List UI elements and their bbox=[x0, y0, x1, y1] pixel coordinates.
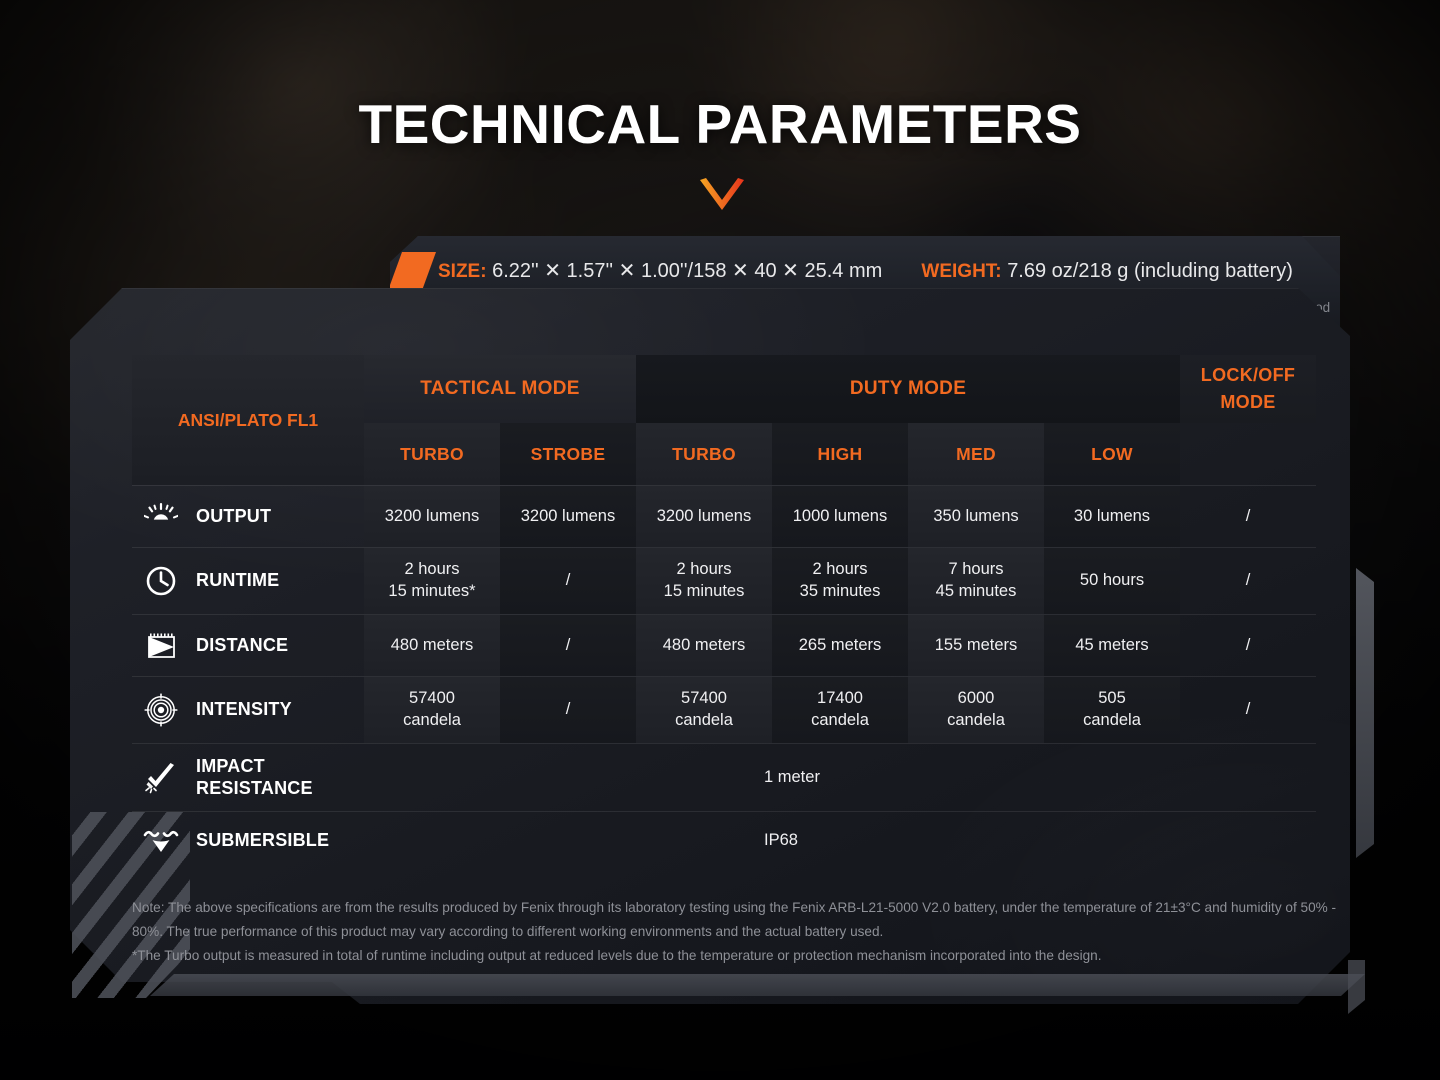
cell-runtime-lockoff: / bbox=[1180, 548, 1316, 614]
column-header-duty-turbo[interactable]: TURBO bbox=[636, 423, 772, 485]
size-value: 6.22'' ✕ 1.57'' ✕ 1.00''/158 ✕ 40 ✕ 25.4… bbox=[492, 260, 882, 282]
table-row: SUBMERSIBLE IP68 bbox=[132, 811, 1316, 869]
clock-icon bbox=[140, 565, 182, 597]
ansi-plato-label-cell: ANSI/PLATO FL1 bbox=[132, 355, 364, 485]
table-row: INTENSITY 57400candela / 57400candela 17… bbox=[132, 676, 1316, 743]
cell-runtime-duty-high: 2 hours35 minutes bbox=[772, 548, 908, 614]
cell-output-duty-med: 350 lumens bbox=[908, 486, 1044, 547]
cell-distance-duty-med: 155 meters bbox=[908, 615, 1044, 676]
row-label-output: OUTPUT bbox=[132, 486, 364, 547]
weight-key: WEIGHT: bbox=[921, 261, 1001, 282]
cell-runtime-tactical-turbo: 2 hours15 minutes* bbox=[364, 548, 500, 614]
cell-runtime-duty-low: 50 hours bbox=[1044, 548, 1180, 614]
weight-value: 7.69 oz/218 g (including battery) bbox=[1007, 260, 1293, 282]
cell-output-lockoff: / bbox=[1180, 486, 1316, 547]
group-header-tactical: TACTICAL MODE bbox=[364, 355, 636, 423]
cell-intensity-lockoff: / bbox=[1180, 677, 1316, 743]
row-label-text: DISTANCE bbox=[196, 635, 288, 656]
row-label-distance: DISTANCE bbox=[132, 615, 364, 676]
water-drop-icon bbox=[140, 828, 182, 854]
row-label-text: OUTPUT bbox=[196, 506, 271, 527]
cell-impact-resistance-value: 1 meter bbox=[364, 744, 1316, 811]
row-label-runtime: RUNTIME bbox=[132, 548, 364, 614]
impact-resistance-icon bbox=[140, 762, 182, 794]
panel-bottom-accent-bar bbox=[150, 974, 1365, 996]
cell-intensity-duty-turbo: 57400candela bbox=[636, 677, 772, 743]
specs-table: ANSI/PLATO FL1 TACTICAL MODE DUTY MODE L… bbox=[132, 355, 1316, 869]
chevron-down-icon bbox=[698, 176, 746, 216]
page-title: TECHNICAL PARAMETERS bbox=[0, 92, 1440, 156]
table-row: IMPACTRESISTANCE 1 meter bbox=[132, 743, 1316, 811]
column-header-tactical-turbo[interactable]: TURBO bbox=[364, 423, 500, 485]
cell-distance-lockoff: / bbox=[1180, 615, 1316, 676]
size-key: SIZE: bbox=[438, 261, 487, 282]
cell-distance-tactical-turbo: 480 meters bbox=[364, 615, 500, 676]
row-label-text: INTENSITY bbox=[196, 699, 292, 720]
cell-output-duty-turbo: 3200 lumens bbox=[636, 486, 772, 547]
row-label-text: SUBMERSIBLE bbox=[196, 830, 329, 851]
table-row: DISTANCE 480 meters / 480 meters 265 met… bbox=[132, 614, 1316, 676]
cell-distance-duty-low: 45 meters bbox=[1044, 615, 1180, 676]
cell-runtime-duty-med: 7 hours45 minutes bbox=[908, 548, 1044, 614]
panel-right-accent-bar bbox=[1356, 568, 1374, 858]
cell-intensity-duty-high: 17400candela bbox=[772, 677, 908, 743]
column-header-duty-low[interactable]: LOW bbox=[1044, 423, 1180, 485]
row-label-intensity: INTENSITY bbox=[132, 677, 364, 743]
ansi-plato-label: ANSI/PLATO FL1 bbox=[178, 410, 318, 431]
row-label-impact-resistance: IMPACTRESISTANCE bbox=[132, 744, 364, 811]
column-header-lockoff-spacer bbox=[1180, 423, 1316, 485]
row-label-text: IMPACTRESISTANCE bbox=[196, 756, 313, 798]
footer-note-main: Note: The above specifications are from … bbox=[132, 900, 1336, 939]
sunburst-icon bbox=[140, 502, 182, 532]
footer-note-asterisk: *The Turbo output is measured in total o… bbox=[132, 948, 1102, 963]
table-row: OUTPUT 3200 lumens 3200 lumens 3200 lume… bbox=[132, 485, 1316, 547]
cell-output-duty-high: 1000 lumens bbox=[772, 486, 908, 547]
row-label-text: RUNTIME bbox=[196, 570, 279, 591]
cell-intensity-tactical-turbo: 57400candela bbox=[364, 677, 500, 743]
cell-runtime-duty-turbo: 2 hours15 minutes bbox=[636, 548, 772, 614]
cell-submersible-value: IP68 bbox=[364, 812, 1316, 869]
cell-output-tactical-strobe: 3200 lumens bbox=[500, 486, 636, 547]
cell-intensity-duty-low: 505candela bbox=[1044, 677, 1180, 743]
group-header-duty: DUTY MODE bbox=[636, 355, 1180, 423]
cell-distance-duty-high: 265 meters bbox=[772, 615, 908, 676]
cell-runtime-tactical-strobe: / bbox=[500, 548, 636, 614]
cell-distance-duty-turbo: 480 meters bbox=[636, 615, 772, 676]
row-label-submersible: SUBMERSIBLE bbox=[132, 812, 364, 869]
footer-note: Note: The above specifications are from … bbox=[132, 896, 1337, 969]
table-row: RUNTIME 2 hours15 minutes* / 2 hours15 m… bbox=[132, 547, 1316, 614]
target-intensity-icon bbox=[140, 693, 182, 727]
column-header-duty-med[interactable]: MED bbox=[908, 423, 1044, 485]
column-header-tactical-strobe[interactable]: STROBE bbox=[500, 423, 636, 485]
cell-output-duty-low: 30 lumens bbox=[1044, 486, 1180, 547]
column-header-duty-high[interactable]: HIGH bbox=[772, 423, 908, 485]
cell-output-tactical-turbo: 3200 lumens bbox=[364, 486, 500, 547]
cell-distance-tactical-strobe: / bbox=[500, 615, 636, 676]
cell-intensity-duty-med: 6000candela bbox=[908, 677, 1044, 743]
cell-intensity-tactical-strobe: / bbox=[500, 677, 636, 743]
group-header-lockoff: LOCK/OFF MODE bbox=[1180, 355, 1316, 423]
beam-distance-icon bbox=[140, 631, 182, 661]
